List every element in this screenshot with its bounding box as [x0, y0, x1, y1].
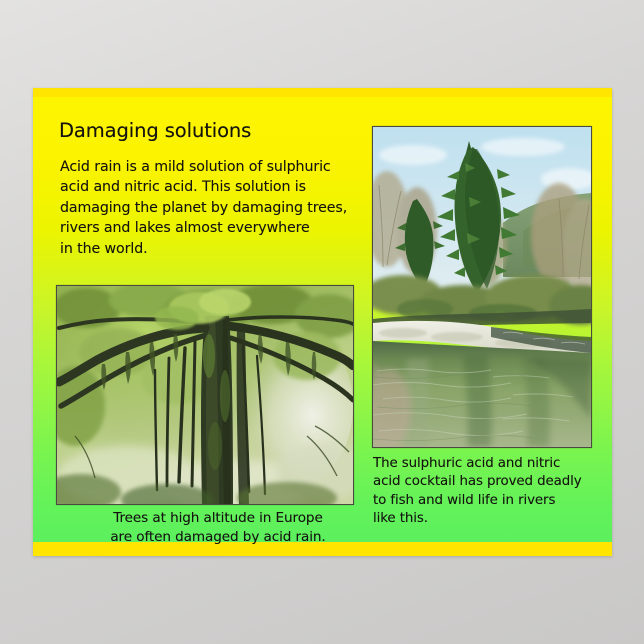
- tree-caption-line: are often damaged by acid rain.: [63, 528, 373, 547]
- river-photo-caption: The sulphuric acid and nitric acid cockt…: [373, 455, 601, 529]
- acid-rain-poster: Damaging solutions Acid rain is a mild s…: [33, 88, 612, 556]
- intro-line: acid and nitric acid. This solution is: [60, 177, 380, 197]
- intro-paragraph: Acid rain is a mild solution of sulphuri…: [60, 157, 380, 259]
- intro-line: in the world.: [60, 239, 380, 259]
- photo-river-conifers-bank: [372, 126, 592, 448]
- poster-gradient-panel: Damaging solutions Acid rain is a mild s…: [33, 97, 612, 542]
- river-caption-line: to fish and wild life in rivers: [373, 492, 601, 510]
- tree-photo-caption: Trees at high altitude in Europe are oft…: [63, 509, 373, 547]
- river-caption-line: The sulphuric acid and nitric: [373, 455, 601, 473]
- river-caption-line: acid cocktail has proved deadly: [373, 473, 601, 491]
- intro-line: Acid rain is a mild solution of sulphuri…: [60, 157, 380, 177]
- screenshot-canvas: Damaging solutions Acid rain is a mild s…: [0, 0, 644, 644]
- intro-line: rivers and lakes almost everywhere: [60, 218, 380, 238]
- tree-caption-line: Trees at high altitude in Europe: [63, 509, 373, 528]
- intro-line: damaging the planet by damaging trees,: [60, 198, 380, 218]
- page-title: Damaging solutions: [59, 119, 251, 143]
- photo-mossy-tree-forest: [56, 285, 354, 505]
- river-caption-line: like this.: [373, 510, 601, 528]
